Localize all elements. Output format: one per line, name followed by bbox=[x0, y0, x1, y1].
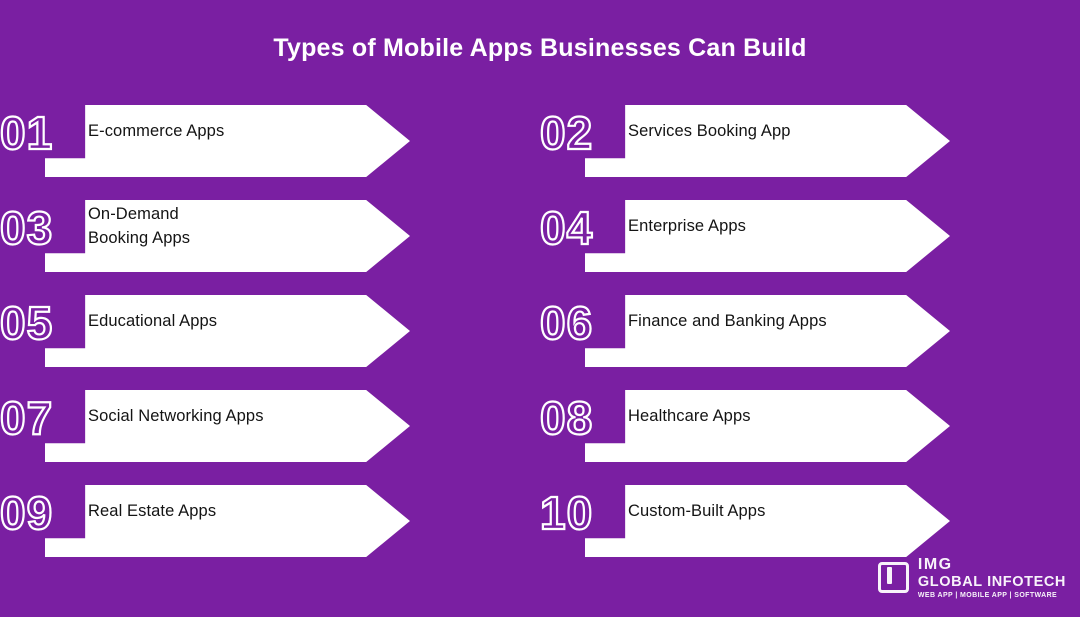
item-number: 05 bbox=[0, 288, 75, 358]
item-label-line: E-commerce Apps bbox=[88, 120, 338, 144]
item-label: On-DemandBooking Apps bbox=[88, 191, 338, 263]
item-number: 03 bbox=[0, 193, 75, 263]
item-label: Custom-Built Apps bbox=[628, 476, 878, 548]
item-number: 02 bbox=[540, 98, 615, 168]
list-item[interactable]: Finance and Banking Apps06 bbox=[540, 286, 1080, 381]
item-number: 09 bbox=[0, 478, 75, 548]
brand-logo: IMG GLOBAL INFOTECH WEB APP | MOBILE APP… bbox=[878, 557, 1066, 600]
item-label: Healthcare Apps bbox=[628, 381, 878, 453]
item-label-line: Healthcare Apps bbox=[628, 405, 878, 429]
bracket-square-icon bbox=[878, 562, 909, 593]
item-label: Enterprise Apps bbox=[628, 191, 878, 263]
item-label: Educational Apps bbox=[88, 286, 338, 358]
item-label: Services Booking App bbox=[628, 96, 878, 168]
item-label-line: Enterprise Apps bbox=[628, 215, 878, 239]
items-grid: E-commerce Apps01Services Booking App02O… bbox=[0, 96, 1080, 571]
page-title: Types of Mobile Apps Businesses Can Buil… bbox=[0, 0, 1080, 63]
list-item[interactable]: Real Estate Apps09 bbox=[0, 476, 540, 571]
item-number: 06 bbox=[540, 288, 615, 358]
item-label: E-commerce Apps bbox=[88, 96, 338, 168]
item-label-line: Real Estate Apps bbox=[88, 500, 338, 524]
item-number: 01 bbox=[0, 98, 75, 168]
logo-name: IMG bbox=[918, 557, 1066, 573]
item-label: Social Networking Apps bbox=[88, 381, 338, 453]
item-number: 10 bbox=[540, 478, 615, 548]
list-item[interactable]: Social Networking Apps07 bbox=[0, 381, 540, 476]
item-label-line: Booking Apps bbox=[88, 227, 338, 251]
infographic-page: { "page": { "title": "Types of Mobile Ap… bbox=[0, 0, 1080, 617]
list-item[interactable]: E-commerce Apps01 bbox=[0, 96, 540, 191]
logo-tagline: WEB APP | MOBILE APP | SOFTWARE bbox=[918, 592, 1066, 599]
list-item[interactable]: Services Booking App02 bbox=[540, 96, 1080, 191]
item-label-line: Educational Apps bbox=[88, 310, 338, 334]
list-item[interactable]: On-DemandBooking Apps03 bbox=[0, 191, 540, 286]
item-number: 08 bbox=[540, 383, 615, 453]
item-label-line: Services Booking App bbox=[628, 120, 878, 144]
list-item[interactable]: Healthcare Apps08 bbox=[540, 381, 1080, 476]
logo-text-block: IMG GLOBAL INFOTECH WEB APP | MOBILE APP… bbox=[918, 557, 1066, 600]
list-item[interactable]: Enterprise Apps04 bbox=[540, 191, 1080, 286]
item-number: 07 bbox=[0, 383, 75, 453]
item-label: Finance and Banking Apps bbox=[628, 286, 878, 358]
item-number: 04 bbox=[540, 193, 615, 263]
item-label-line: Social Networking Apps bbox=[88, 405, 338, 429]
logo-subtitle: GLOBAL INFOTECH bbox=[918, 575, 1066, 590]
item-label-line: Custom-Built Apps bbox=[628, 500, 878, 524]
list-item[interactable]: Educational Apps05 bbox=[0, 286, 540, 381]
item-label-line: On-Demand bbox=[88, 203, 338, 227]
item-label: Real Estate Apps bbox=[88, 476, 338, 548]
item-label-line: Finance and Banking Apps bbox=[628, 310, 878, 334]
